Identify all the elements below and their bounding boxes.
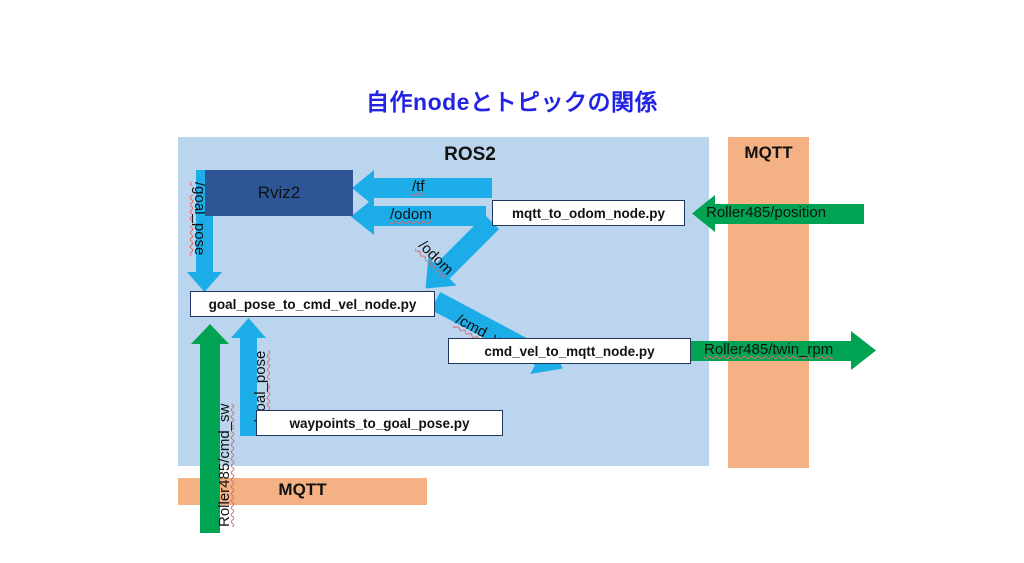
mqtt-right-zone — [728, 137, 809, 468]
page-title: 自作nodeとトピックの関係 — [0, 83, 1024, 117]
node-label-waypoints-to-goal-pose: waypoints_to_goal_pose.py — [289, 416, 469, 431]
node-label-goal-pose-to-cmd-vel: goal_pose_to_cmd_vel_node.py — [209, 297, 417, 312]
ros2-zone-label: ROS2 — [380, 144, 560, 166]
node-box-mqtt-to-odom[interactable]: mqtt_to_odom_node.py — [492, 200, 685, 226]
node-label-rviz2: Rviz2 — [258, 183, 301, 203]
diagram-canvas: 自作nodeとトピックの関係 ROS2 MQTT MQTT — [0, 0, 1024, 563]
label-mqtt-twin-rpm: Roller485/twin_rpm — [704, 341, 833, 358]
node-box-goal-pose-to-cmd-vel[interactable]: goal_pose_to_cmd_vel_node.py — [190, 291, 435, 317]
node-label-mqtt-to-odom: mqtt_to_odom_node.py — [512, 206, 665, 221]
node-box-cmd-vel-to-mqtt[interactable]: cmd_vel_to_mqtt_node.py — [448, 338, 691, 364]
label-mqtt-position: Roller485/position — [706, 204, 826, 221]
node-box-waypoints-to-goal-pose[interactable]: waypoints_to_goal_pose.py — [256, 410, 503, 436]
label-odom-to-rviz: /odom — [390, 206, 432, 223]
label-tf: /tf — [412, 178, 425, 195]
label-mqtt-cmd-sw: Roller485/cmd_sw — [216, 404, 233, 527]
node-label-cmd-vel-to-mqtt: cmd_vel_to_mqtt_node.py — [484, 344, 654, 359]
node-box-rviz2[interactable]: Rviz2 — [205, 170, 353, 216]
mqtt-right-zone-label: MQTT — [728, 143, 809, 163]
